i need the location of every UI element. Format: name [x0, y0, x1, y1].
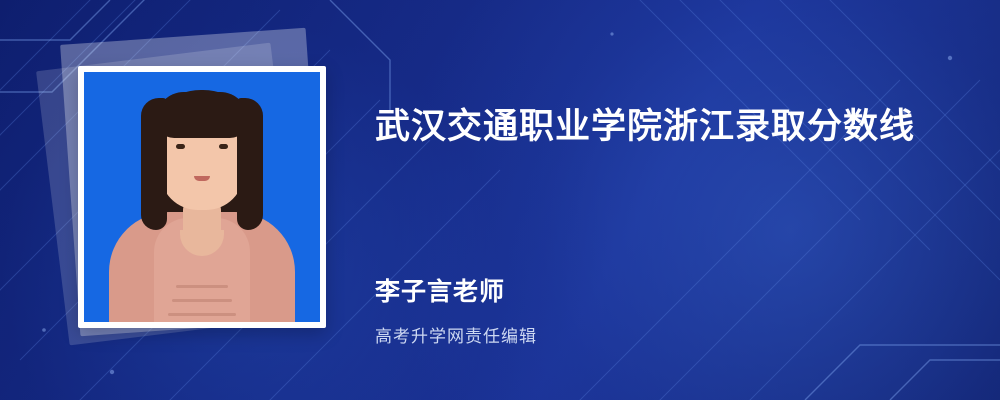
portrait-photo-stack	[46, 26, 346, 356]
portrait-dress-fold	[168, 313, 236, 316]
portrait-eye-right	[219, 144, 228, 149]
article-header-banner: 武汉交通职业学院浙江录取分数线 李子言老师 高考升学网责任编辑	[0, 0, 1000, 400]
photo-frame-front	[78, 66, 326, 328]
portrait-hair-right	[237, 98, 263, 230]
author-name: 李子言老师	[375, 272, 505, 308]
portrait-dress-fold	[176, 285, 228, 288]
portrait-fringe	[156, 92, 248, 138]
author-role: 高考升学网责任编辑	[375, 322, 537, 347]
portrait-mouth	[194, 176, 210, 181]
portrait-eye-left	[176, 144, 185, 149]
portrait-photo	[84, 72, 320, 322]
banner-text-block: 武汉交通职业学院浙江录取分数线 李子言老师 高考升学网责任编辑	[375, 0, 975, 400]
portrait-dress-fold	[172, 299, 232, 302]
portrait-hair-left	[141, 98, 167, 230]
page-title: 武汉交通职业学院浙江录取分数线	[375, 98, 915, 149]
